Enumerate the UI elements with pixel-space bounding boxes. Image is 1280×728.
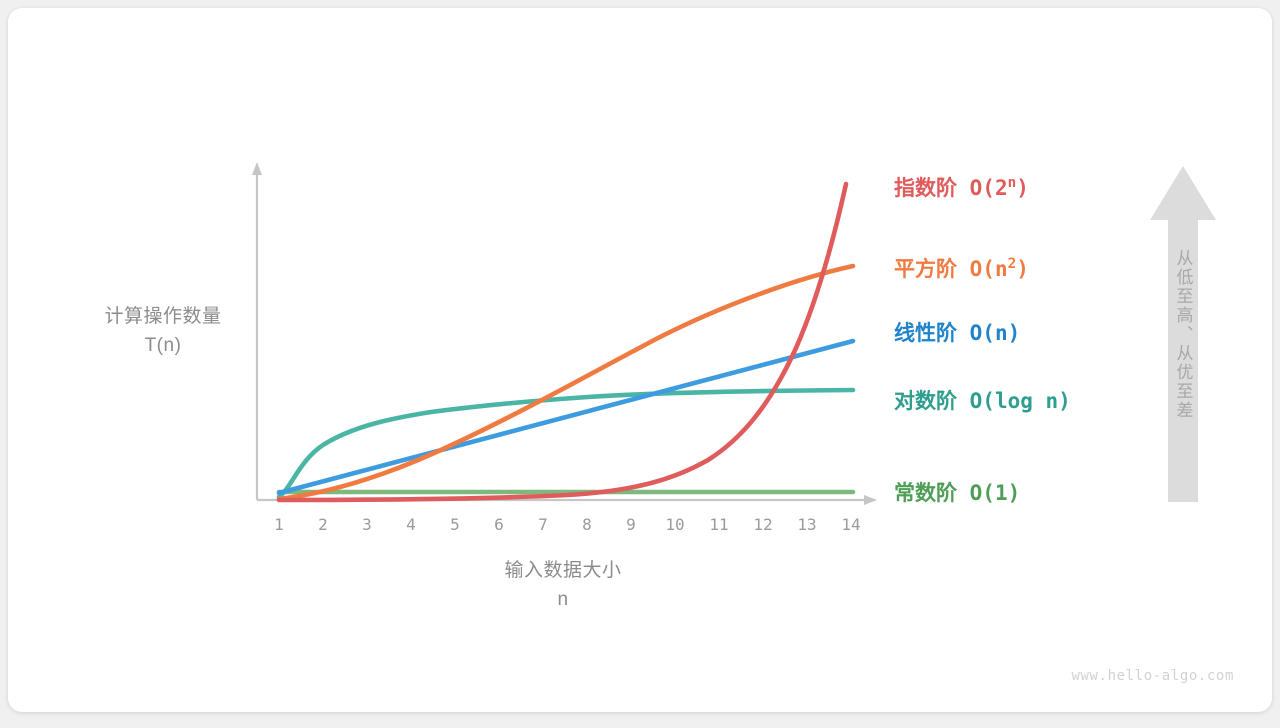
y-axis-label: 计算操作数量 T(n): [63, 302, 263, 361]
x-axis-label: 输入数据大小 n: [463, 556, 663, 615]
quality-arrow-label: 从低至高、从优至差: [1150, 166, 1216, 502]
x-tick-2: 2: [308, 515, 338, 534]
x-tick-7: 7: [528, 515, 558, 534]
complexity-chart: [8, 8, 1280, 728]
chart-card: 计算操作数量 T(n) 输入数据大小 n 1 2 3 4 5 6 7 8 9 1…: [8, 8, 1272, 712]
axes: [252, 162, 877, 505]
legend-label-cn-logarithmic: 对数阶: [894, 389, 957, 413]
legend-label-bigo-linear: O(n): [970, 321, 1021, 345]
x-tick-12: 12: [748, 515, 778, 534]
legend-label-bigo-quadratic: O(n: [970, 257, 1008, 281]
x-tick-13: 13: [792, 515, 822, 534]
x-tick-6: 6: [484, 515, 514, 534]
x-tick-9: 9: [616, 515, 646, 534]
x-tick-8: 8: [572, 515, 602, 534]
legend-exponent-quadratic: 2: [1008, 256, 1017, 272]
legend-item-logarithmic: 对数阶 O(log n): [894, 385, 1071, 415]
legend-label-cn-exponential: 指数阶: [894, 176, 957, 200]
x-tick-11: 11: [704, 515, 734, 534]
legend-tail-exponential: ): [1016, 176, 1029, 200]
legend-item-quadratic: 平方阶 O(n2): [894, 253, 1029, 283]
x-tick-4: 4: [396, 515, 426, 534]
legend-label-bigo-logarithmic: O(log n): [970, 389, 1071, 413]
legend-item-exponential: 指数阶 O(2n): [894, 172, 1029, 202]
legend-label-cn-constant: 常数阶: [894, 481, 957, 505]
series-quadratic: [279, 266, 853, 499]
legend-label-bigo-exponential: O(2: [970, 176, 1008, 200]
legend-label-cn-quadratic: 平方阶: [894, 257, 957, 281]
series-exponential: [279, 184, 846, 500]
x-tick-3: 3: [352, 515, 382, 534]
legend-item-linear: 线性阶 O(n): [894, 317, 1020, 347]
series-linear: [279, 341, 853, 493]
legend-label-bigo-constant: O(1): [970, 481, 1021, 505]
legend-item-constant: 常数阶 O(1): [894, 477, 1020, 507]
legend-label-cn-linear: 线性阶: [894, 321, 957, 345]
x-tick-14: 14: [836, 515, 866, 534]
legend-exponent-exponential: n: [1008, 175, 1017, 191]
watermark: www.hello-algo.com: [1071, 668, 1234, 684]
x-tick-10: 10: [660, 515, 690, 534]
legend-tail-quadratic: ): [1016, 257, 1029, 281]
x-tick-5: 5: [440, 515, 470, 534]
x-tick-1: 1: [264, 515, 294, 534]
